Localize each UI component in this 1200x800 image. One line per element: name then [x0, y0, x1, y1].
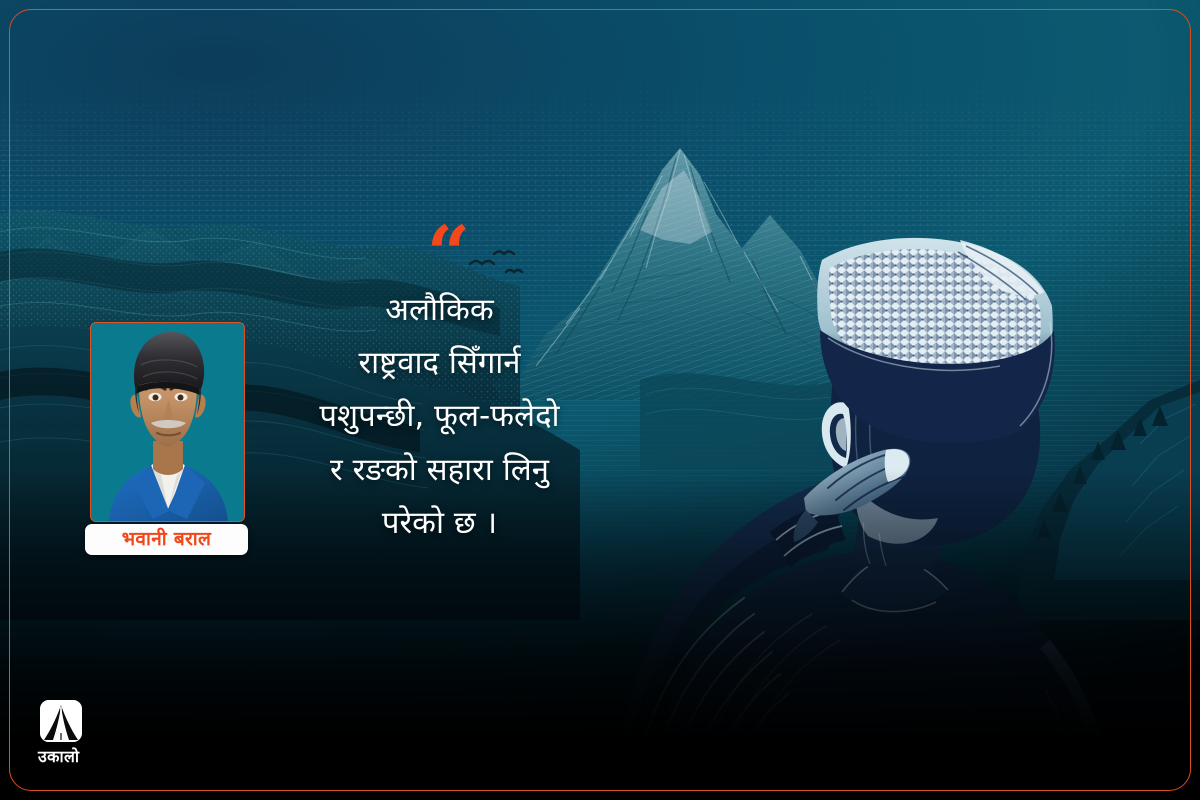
author-name-badge: भवानी बराल: [85, 524, 248, 555]
quote-line: राष्ट्रवाद सिँगार्न: [247, 337, 632, 390]
quote-block: “ अलौकिक राष्ट्रवाद सिँगार्न पशुपन्छी, फ…: [247, 228, 632, 550]
quote-line: पशुपन्छी, फूल-फलेदो: [247, 390, 632, 443]
quote-line: अलौकिक: [247, 284, 632, 337]
brand-logo[interactable]: उकालो: [38, 700, 112, 767]
ukalo-mark-icon: [40, 700, 82, 742]
quote-line: परेको छ ।: [247, 497, 632, 550]
quote-line: र रङको सहारा लिनु: [247, 444, 632, 497]
quote-card: “ अलौकिक राष्ट्रवाद सिँगार्न पशुपन्छी, फ…: [0, 0, 1200, 800]
author-name: भवानी बराल: [122, 530, 211, 549]
brand-name: उकालो: [38, 745, 112, 767]
quote-mark-icon: “: [263, 228, 632, 280]
quote-text: अलौकिक राष्ट्रवाद सिँगार्न पशुपन्छी, फूल…: [247, 284, 632, 551]
author-portrait: [90, 322, 245, 522]
